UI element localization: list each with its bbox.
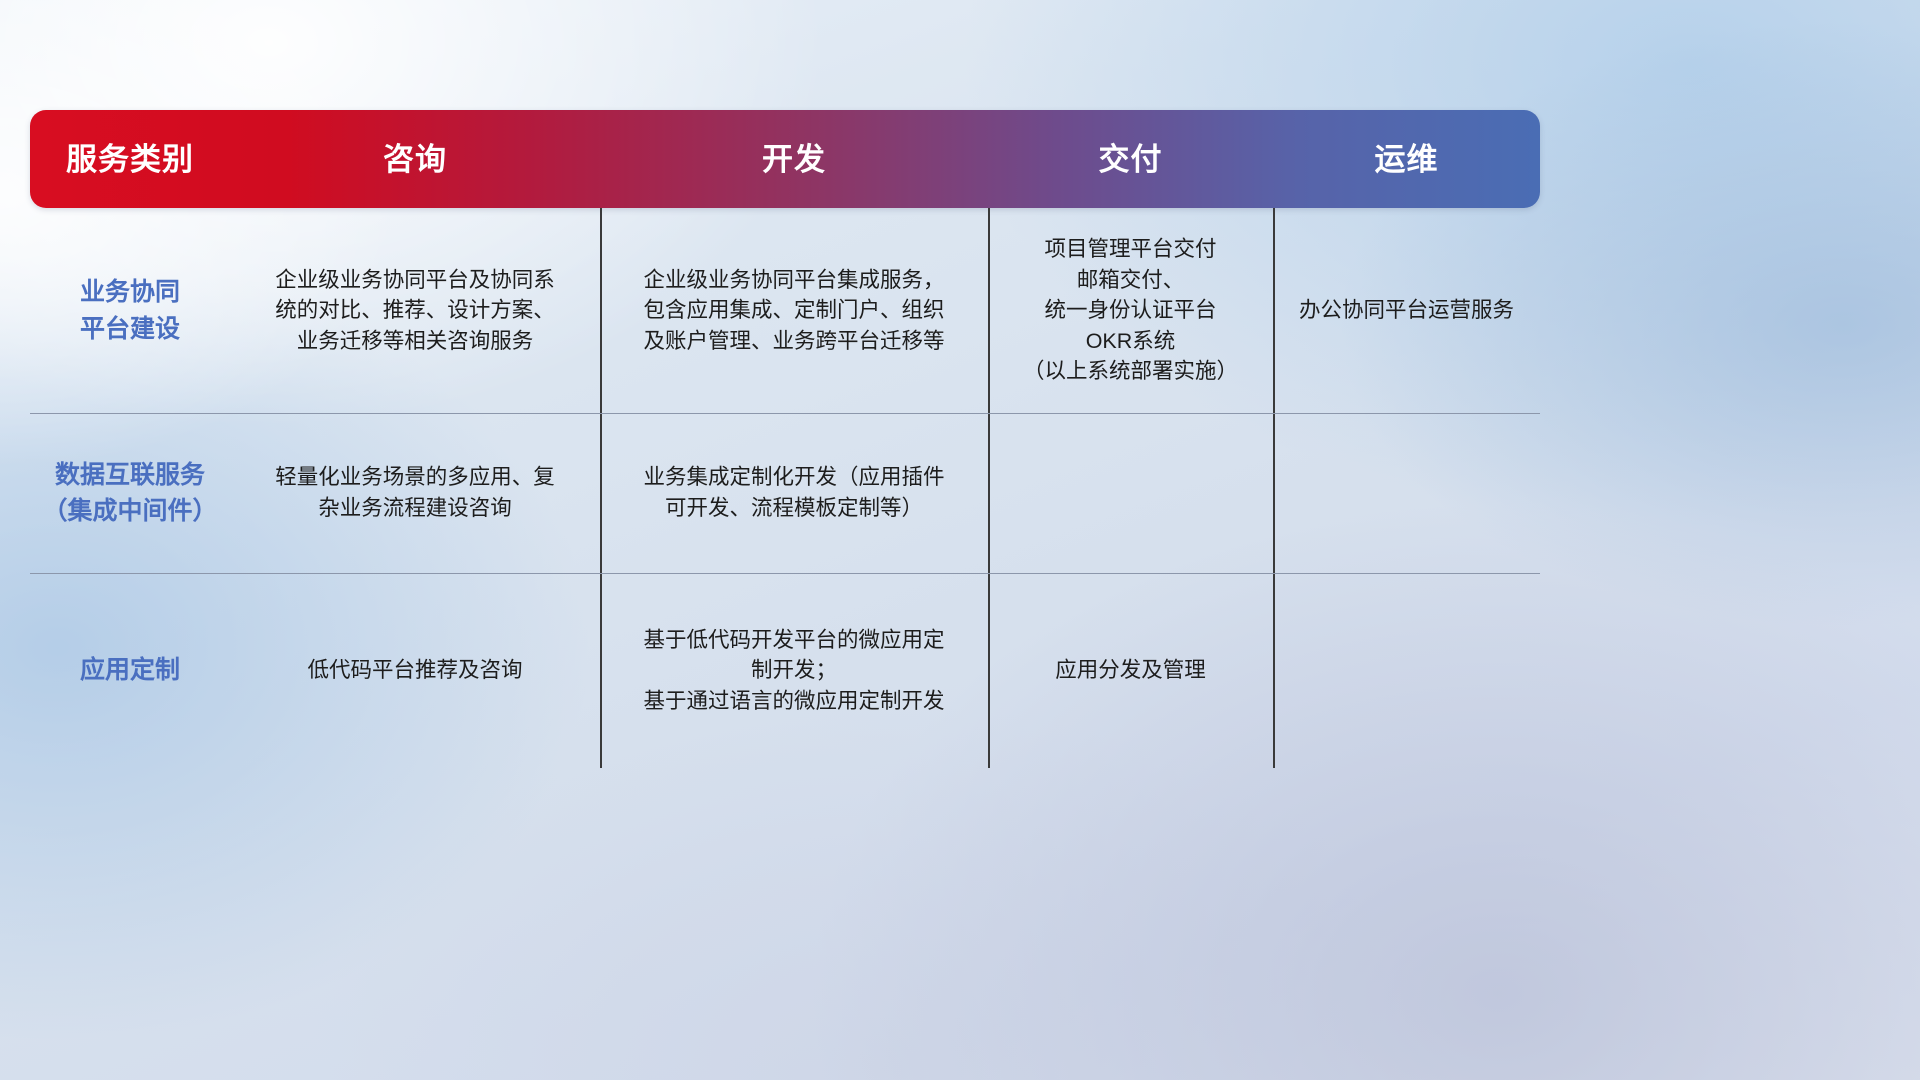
column-header-operations: 运维 — [1273, 144, 1540, 175]
row-category-label: 业务协同 平台建设 — [30, 208, 230, 413]
table-row: 应用定制 低代码平台推荐及咨询 基于低代码开发平台的微应用定 制开发； 基于通过… — [30, 573, 1540, 768]
cell-operations — [1273, 413, 1540, 573]
cell-delivery — [988, 413, 1273, 573]
table-body: 业务协同 平台建设 企业级业务协同平台及协同系 统的对比、推荐、设计方案、 业务… — [30, 208, 1540, 768]
cell-development: 基于低代码开发平台的微应用定 制开发； 基于通过语言的微应用定制开发 — [600, 573, 988, 768]
cell-consulting: 企业级业务协同平台及协同系 统的对比、推荐、设计方案、 业务迁移等相关咨询服务 — [230, 208, 600, 413]
cell-operations: 办公协同平台运营服务 — [1273, 208, 1540, 413]
cell-operations — [1273, 573, 1540, 768]
row-category-label: 数据互联服务 （集成中间件） — [30, 413, 230, 573]
cell-consulting: 低代码平台推荐及咨询 — [230, 573, 600, 768]
table-row: 数据互联服务 （集成中间件） 轻量化业务场景的多应用、复 杂业务流程建设咨询 业… — [30, 413, 1540, 573]
cell-consulting: 轻量化业务场景的多应用、复 杂业务流程建设咨询 — [230, 413, 600, 573]
column-header-delivery: 交付 — [988, 144, 1273, 175]
cell-development: 企业级业务协同平台集成服务， 包含应用集成、定制门户、组织 及账户管理、业务跨平… — [600, 208, 988, 413]
row-category-label: 应用定制 — [30, 573, 230, 768]
column-header-development: 开发 — [600, 144, 988, 175]
service-matrix-table: 服务类别 咨询 开发 交付 运维 业务协同 平台建设 企业级业务协同平台及协同系… — [30, 110, 1540, 780]
column-header-consulting: 咨询 — [230, 144, 600, 175]
cell-development: 业务集成定制化开发（应用插件 可开发、流程模板定制等） — [600, 413, 988, 573]
table-row: 业务协同 平台建设 企业级业务协同平台及协同系 统的对比、推荐、设计方案、 业务… — [30, 208, 1540, 413]
column-header-service-category: 服务类别 — [30, 144, 230, 175]
table-header-row: 服务类别 咨询 开发 交付 运维 — [30, 110, 1540, 208]
cell-delivery: 项目管理平台交付 邮箱交付、 统一身份认证平台 OKR系统 （以上系统部署实施） — [988, 208, 1273, 413]
cell-delivery: 应用分发及管理 — [988, 573, 1273, 768]
